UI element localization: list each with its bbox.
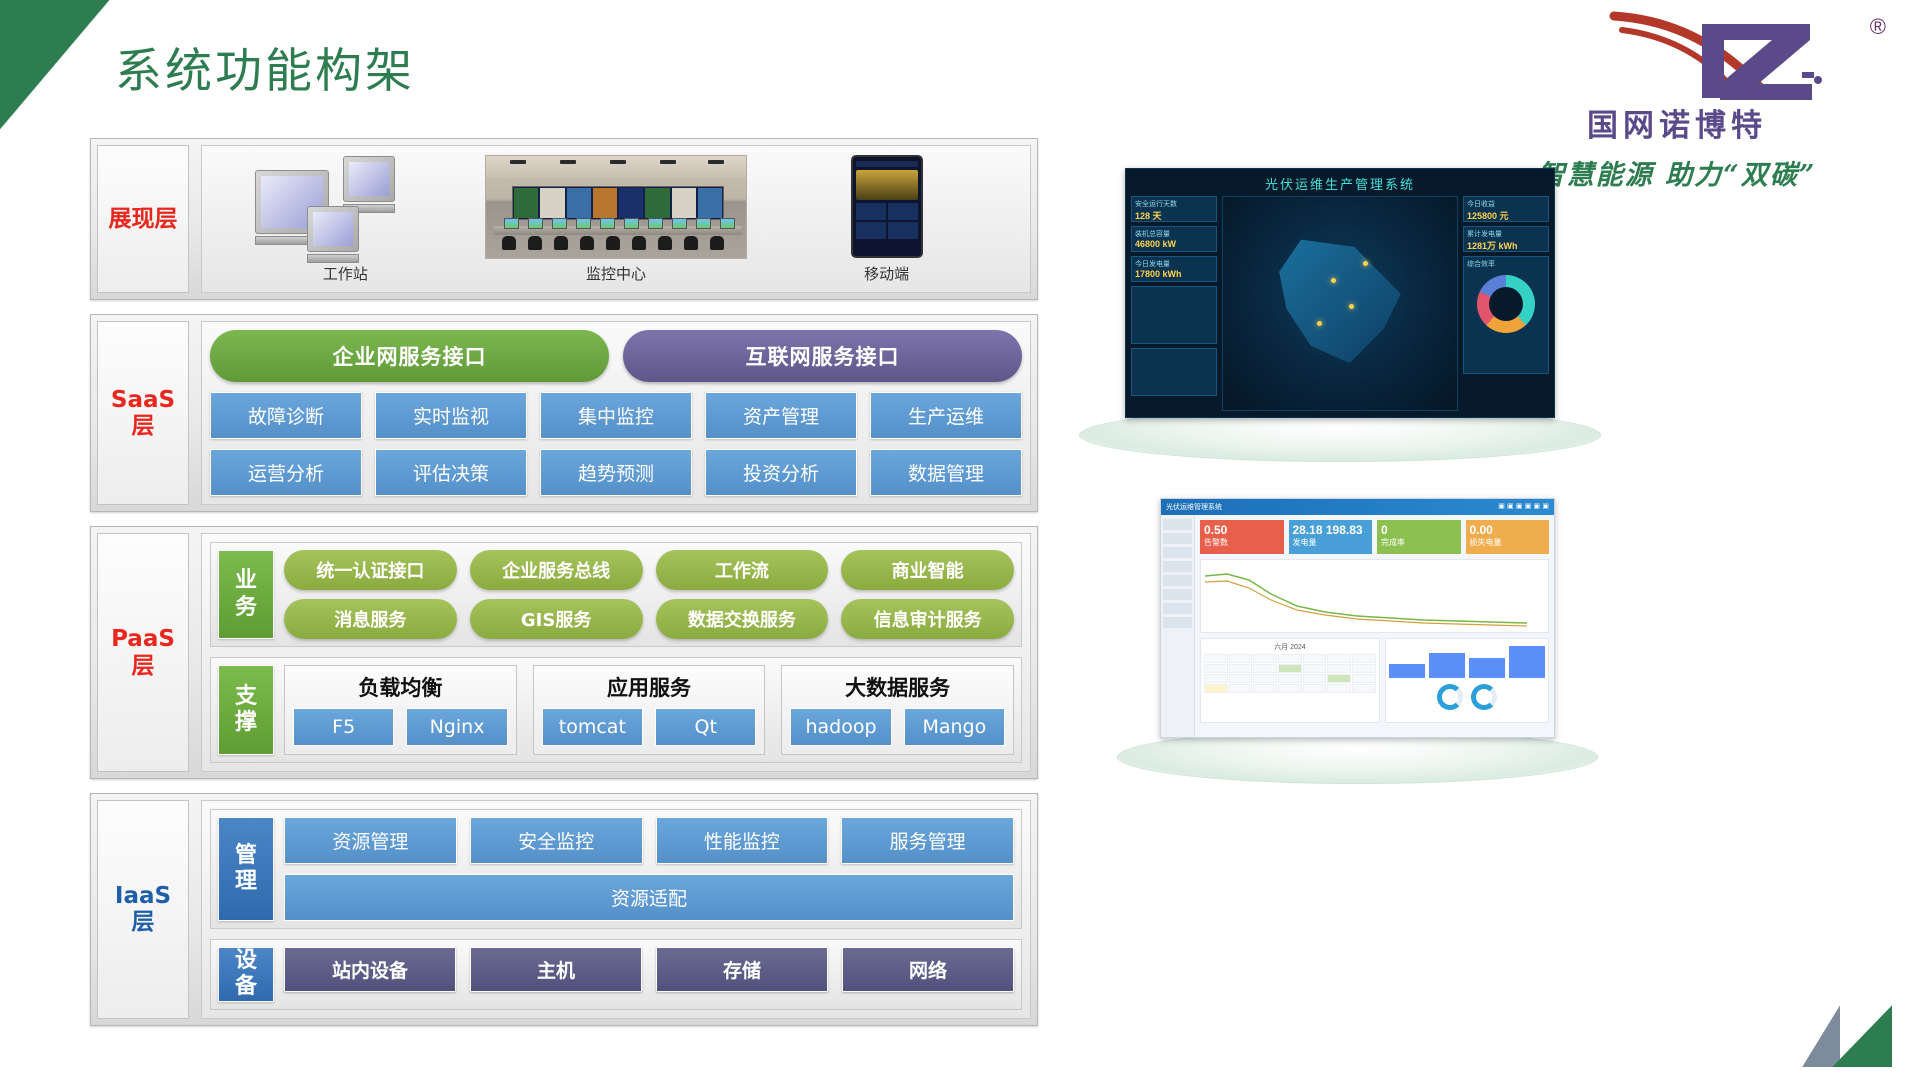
kpi-generation: 28.18 198.83 发电量 (1289, 520, 1373, 554)
paas-cap-esb[interactable]: 企业服务总线 (470, 550, 643, 590)
paas-support-tag: 支 撑 (218, 665, 274, 755)
top-left-corner-decoration (0, 0, 110, 130)
kpi-loss: 0.00 损失电量 (1466, 520, 1550, 554)
iaas-manage-items: 资源管理 安全监控 性能监控 服务管理 (284, 817, 1014, 864)
card-label: 今日收益 (1467, 201, 1495, 208)
support-item-hadoop[interactable]: hadoop (790, 708, 891, 746)
card-label: 安全运行天数 (1135, 201, 1177, 208)
dashboard-2-side-widgets (1385, 638, 1549, 723)
kpi-label: 完成率 (1381, 538, 1405, 547)
display-caption-control-center: 监控中心 (481, 263, 752, 284)
paas-business-tag-line1: 业 (235, 568, 257, 594)
kpi-value: 0.50 (1204, 523, 1280, 537)
iaas-device-tag-line1: 设 (235, 948, 257, 974)
saas-module-production-om[interactable]: 生产运维 (870, 392, 1022, 439)
saas-interface-internet[interactable]: 互联网服务接口 (623, 330, 1022, 382)
kpi-label: 损失电量 (1470, 538, 1502, 547)
dashboard-1-card-safe-days: 安全运行天数 128 天 (1131, 196, 1217, 222)
kpi-alarm: 0.50 告警数 (1200, 520, 1284, 554)
layer-paas: PaaS 层 业 务 统一认证接口 企业服务总线 工作流 商业智能 (90, 526, 1038, 779)
efficiency-donut-chart (1477, 275, 1535, 333)
layer-label-saas-line1: SaaS (111, 387, 175, 413)
registered-mark-icon: ® (1870, 14, 1886, 40)
iaas-device-tag-line2: 备 (235, 974, 257, 1000)
support-item-f5[interactable]: F5 (293, 708, 394, 746)
display-item-workstation[interactable]: 工作站 (210, 154, 481, 284)
iaas-manage-tag: 管 理 (218, 817, 274, 921)
dashboard-1-right-cards: 今日收益 125800 元 累计发电量 1281万 kWh 综合效率 (1463, 196, 1549, 411)
card-label: 今日发电量 (1135, 261, 1170, 268)
line-chart-svg (1201, 560, 1531, 633)
support-item-nginx[interactable]: Nginx (406, 708, 507, 746)
paas-cap-data-exchange[interactable]: 数据交换服务 (656, 599, 829, 639)
dashboard-1-left-cards: 安全运行天数 128 天 装机总容量 46800 kW 今日发电量 17800 … (1131, 196, 1217, 411)
dashboard-2-header: 光伏运维管理系统 ▣ ▣ ▣ ▣ ▣ ▣ (1161, 499, 1554, 515)
iaas-item-performance-monitor[interactable]: 性能监控 (656, 817, 829, 864)
dashboard-1-card-today-generation: 今日发电量 17800 kWh (1131, 256, 1217, 282)
layer-label-iaas-line2: 层 (131, 909, 154, 935)
support-card-app-service: 应用服务 tomcat Qt (533, 665, 766, 755)
dashboard-2-pedestal (1117, 730, 1598, 784)
saas-modules-row-1: 故障诊断 实时监视 集中监控 资产管理 生产运维 (210, 392, 1022, 439)
support-card-bigdata-service: 大数据服务 hadoop Mango (781, 665, 1014, 755)
saas-module-central-control[interactable]: 集中监控 (540, 392, 692, 439)
calendar-title: 六月 2024 (1204, 642, 1376, 652)
saas-modules-row-2: 运营分析 评估决策 趋势预测 投资分析 数据管理 (210, 449, 1022, 496)
paas-cap-gis-service[interactable]: GIS服务 (470, 599, 643, 639)
paas-business-block: 业 务 统一认证接口 企业服务总线 工作流 商业智能 消息服务 GIS服务 数据… (210, 542, 1022, 647)
kpi-label: 告警数 (1204, 538, 1228, 547)
dashboard-1-map[interactable] (1222, 196, 1458, 411)
paas-cap-message-service[interactable]: 消息服务 (284, 599, 457, 639)
kpi-value: 0.00 (1470, 523, 1546, 537)
mobile-phone-icon (751, 154, 1022, 259)
dashboard-2-calendar[interactable]: 六月 2024 (1200, 638, 1380, 723)
card-value: 17800 kWh (1135, 269, 1213, 279)
iaas-item-resource-adaptation[interactable]: 资源适配 (284, 874, 1014, 921)
saas-module-investment-analysis[interactable]: 投资分析 (705, 449, 857, 496)
kpi-label: 发电量 (1293, 538, 1317, 547)
paas-cap-audit-service[interactable]: 信息审计服务 (841, 599, 1014, 639)
desktop-pc-small-1 (343, 156, 395, 213)
layer-display: 展现层 (90, 138, 1038, 300)
saas-interface-row: 企业网服务接口 互联网服务接口 (210, 330, 1022, 382)
dashboard-1-card-capacity: 装机总容量 46800 kW (1131, 226, 1217, 252)
iaas-manage-block: 管 理 资源管理 安全监控 性能监控 服务管理 资源适配 (210, 809, 1022, 929)
support-title-load-balancer: 负载均衡 (293, 672, 508, 702)
iaas-device-host[interactable]: 主机 (470, 947, 642, 992)
nzt-logo-icon (1606, 8, 1856, 104)
saas-module-realtime-monitor[interactable]: 实时监视 (375, 392, 527, 439)
display-item-mobile[interactable]: 移动端 (751, 154, 1022, 284)
saas-module-data-management[interactable]: 数据管理 (870, 449, 1022, 496)
layer-label-display: 展现层 (97, 145, 189, 293)
architecture-diagram: 展现层 (90, 138, 1038, 1040)
kpi-value: 0 (1381, 523, 1457, 537)
map-site-dot (1331, 278, 1336, 283)
iaas-device-items: 站内设备 主机 存储 网络 (284, 947, 1014, 992)
corner-green-triangle (1832, 1005, 1892, 1067)
layer-label-saas: SaaS 层 (97, 321, 189, 505)
dashboard-1-rank-list (1131, 286, 1217, 344)
control-room-photo (481, 154, 752, 259)
screenshot-dashboard-1[interactable]: 光伏运维生产管理系统 安全运行天数 128 天 装机总容量 46800 kW 今… (1125, 168, 1555, 418)
workstation-icon (210, 154, 481, 259)
card-value: 1281万 kWh (1467, 239, 1545, 252)
iaas-device-block: 设 备 站内设备 主机 存储 网络 (210, 939, 1022, 1010)
layer-body-paas: 业 务 统一认证接口 企业服务总线 工作流 商业智能 消息服务 GIS服务 数据… (201, 533, 1031, 772)
logo-company-name: 国网诺博特 (1462, 100, 1892, 145)
company-logo: ® 国网诺博特 智慧能源 助力“双碳” (1462, 8, 1892, 192)
iaas-device-network[interactable]: 网络 (842, 947, 1014, 992)
support-item-qt[interactable]: Qt (655, 708, 756, 746)
gauge-ring (1437, 684, 1463, 710)
card-value: 46800 kW (1135, 239, 1213, 249)
kpi-completion: 0 完成率 (1377, 520, 1461, 554)
support-item-mango[interactable]: Mango (904, 708, 1005, 746)
dashboard-1-card-today-income: 今日收益 125800 元 (1463, 196, 1549, 222)
screenshot-dashboard-2[interactable]: 光伏运维管理系统 ▣ ▣ ▣ ▣ ▣ ▣ 0.50 告警数 28.18 198.… (1160, 498, 1555, 738)
paas-cap-workflow[interactable]: 工作流 (656, 550, 829, 590)
layer-body-saas: 企业网服务接口 互联网服务接口 故障诊断 实时监视 集中监控 资产管理 生产运维… (201, 321, 1031, 505)
iaas-manage-tag-line1: 管 (235, 843, 257, 869)
display-item-control-center[interactable]: 监控中心 (481, 154, 752, 284)
support-title-bigdata-service: 大数据服务 (790, 672, 1005, 702)
layer-label-paas-line2: 层 (131, 653, 154, 679)
dashboard-2-gauges (1389, 684, 1545, 710)
donut-label: 综合效率 (1467, 261, 1495, 268)
card-value: 128 天 (1135, 209, 1213, 222)
kpi-value: 28.18 198.83 (1293, 523, 1369, 537)
layer-label-paas: PaaS 层 (97, 533, 189, 772)
card-value: 125800 元 (1467, 209, 1545, 222)
paas-cap-bi[interactable]: 商业智能 (841, 550, 1014, 590)
card-label: 累计发电量 (1467, 231, 1502, 238)
dashboard-1-efficiency-panel: 综合效率 (1463, 256, 1549, 374)
iaas-device-station-equipment[interactable]: 站内设备 (284, 947, 456, 992)
dashboard-1-status-list (1131, 348, 1217, 396)
saas-module-asset-management[interactable]: 资产管理 (705, 392, 857, 439)
province-map-shape (1279, 240, 1401, 364)
paas-business-row-2: 消息服务 GIS服务 数据交换服务 信息审计服务 (284, 599, 1014, 639)
dashboard-2-header-title: 光伏运维管理系统 (1166, 502, 1222, 512)
paas-business-tag: 业 务 (218, 550, 274, 639)
iaas-item-resource-management[interactable]: 资源管理 (284, 817, 457, 864)
bottom-right-corner-decoration (1802, 987, 1892, 1067)
saas-module-fault-diagnosis[interactable]: 故障诊断 (210, 392, 362, 439)
support-title-app-service: 应用服务 (542, 672, 757, 702)
support-item-tomcat[interactable]: tomcat (542, 708, 643, 746)
layer-label-iaas: IaaS 层 (97, 800, 189, 1019)
card-label: 装机总容量 (1135, 231, 1170, 238)
saas-module-operation-analysis[interactable]: 运营分析 (210, 449, 362, 496)
dashboard-2-line-chart (1200, 559, 1549, 633)
gauge-ring (1471, 684, 1497, 710)
layer-saas: SaaS 层 企业网服务接口 互联网服务接口 故障诊断 实时监视 集中监控 资产… (90, 314, 1038, 512)
dashboard-2-bar-chart (1389, 642, 1545, 678)
support-card-load-balancer: 负载均衡 F5 Nginx (284, 665, 517, 755)
dashboard-1-card-total-generation: 累计发电量 1281万 kWh (1463, 226, 1549, 252)
desktop-pc-small-2 (307, 206, 359, 263)
iaas-device-tag: 设 备 (218, 947, 274, 1002)
display-caption-workstation: 工作站 (210, 263, 481, 284)
paas-business-tag-line2: 务 (235, 595, 257, 621)
layer-iaas: IaaS 层 管 理 资源管理 安全监控 性能监控 服务管理 (90, 793, 1038, 1026)
paas-business-row-1: 统一认证接口 企业服务总线 工作流 商业智能 (284, 550, 1014, 590)
saas-interface-enterprise[interactable]: 企业网服务接口 (210, 330, 609, 382)
saas-module-trend-prediction[interactable]: 趋势预测 (540, 449, 692, 496)
layer-label-saas-line2: 层 (131, 413, 154, 439)
layer-label-iaas-line1: IaaS (115, 883, 171, 909)
layer-label-paas-line1: PaaS (111, 626, 175, 652)
map-site-dot (1317, 321, 1322, 326)
iaas-item-security-monitor[interactable]: 安全监控 (470, 817, 643, 864)
map-site-dot (1349, 304, 1354, 309)
logo-mark: ® (1462, 8, 1892, 106)
dashboard-2-sidebar[interactable] (1161, 515, 1195, 738)
saas-module-evaluation-decision[interactable]: 评估决策 (375, 449, 527, 496)
layer-body-display: 工作站 (201, 145, 1031, 293)
paas-support-tag-line1: 支 (235, 684, 257, 710)
page-title: 系统功能构架 (115, 32, 415, 101)
iaas-manage-tag-line2: 理 (235, 869, 257, 895)
paas-cap-unified-auth[interactable]: 统一认证接口 (284, 550, 457, 590)
dashboard-2-kpi-row: 0.50 告警数 28.18 198.83 发电量 0 完成率 0.00 损失电… (1200, 520, 1549, 554)
layer-body-iaas: 管 理 资源管理 安全监控 性能监控 服务管理 资源适配 (201, 800, 1031, 1019)
iaas-device-storage[interactable]: 存储 (656, 947, 828, 992)
dashboard-2-header-actions[interactable]: ▣ ▣ ▣ ▣ ▣ ▣ (1498, 502, 1549, 512)
paas-support-block: 支 撑 负载均衡 F5 Nginx 应用服务 (210, 657, 1022, 763)
paas-support-tag-line2: 撑 (235, 710, 257, 736)
dashboard-1-title: 光伏运维生产管理系统 (1126, 169, 1554, 196)
iaas-item-service-management[interactable]: 服务管理 (841, 817, 1014, 864)
display-caption-mobile: 移动端 (751, 263, 1022, 284)
